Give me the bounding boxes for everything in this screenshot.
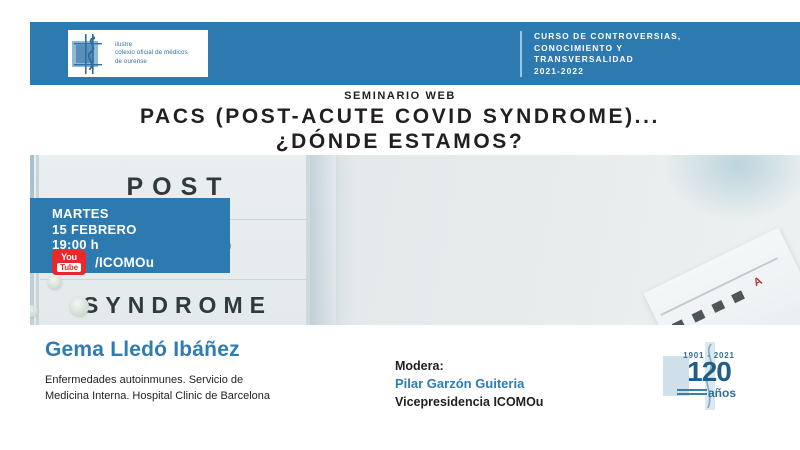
pill-2: [70, 297, 89, 316]
logo-line-3: de ourense: [115, 58, 188, 67]
lightbox-shadow: [310, 155, 340, 325]
moderator-block: Modera: Pilar Garzón Guiteria Vicepresid…: [395, 357, 543, 411]
webinar-poster: ilustre colexio oficial de médicos de ou…: [0, 0, 800, 450]
logo-line-1: ilustre: [115, 41, 188, 50]
course-line-2: CONOCIMIENTO Y: [534, 43, 681, 55]
speaker-affiliation-line-1: Enfermedades autoinmunes. Servicio de: [45, 372, 270, 388]
event-date: 15 FEBRERO: [52, 222, 137, 238]
page-title: PACS (POST-ACUTE COVID SYNDROME)... ¿DÓN…: [0, 104, 800, 154]
speaker-name: Gema Lledó Ibáñez: [45, 338, 240, 362]
seminar-kicker: SEMINARIO WEB: [0, 90, 800, 102]
course-series-title: CURSO DE CONTROVERSIAS, CONOCIMIENTO Y T…: [520, 31, 681, 77]
title-line-1: PACS (POST-ACUTE COVID SYNDROME)...: [0, 104, 800, 129]
course-line-1: CURSO DE CONTROVERSIAS,: [534, 31, 681, 43]
logo-line-2: colexio oficial de médicos: [115, 49, 188, 58]
course-line-4: 2021-2022: [534, 66, 681, 78]
youtube-channel-link[interactable]: You Tube /ICOMOu: [52, 250, 154, 275]
course-line-3: TRANSVERSALIDAD: [534, 54, 681, 66]
moderator-role: Vicepresidencia ICOMOu: [395, 393, 543, 411]
anniversary-word: años: [655, 386, 763, 400]
youtube-icon-top: You: [61, 253, 77, 262]
speaker-affiliation-line-2: Medicina Interna. Hospital Clinic de Bar…: [45, 388, 270, 404]
event-datetime: MARTES 15 FEBRERO 19:00 h: [52, 206, 137, 253]
caduceus-logo-icon: [72, 34, 110, 74]
moderator-label: Modera:: [395, 357, 543, 375]
pill-1: [48, 275, 62, 289]
icomou-logo: ilustre colexio oficial de médicos de ou…: [68, 30, 208, 77]
anniversary-number: 120: [655, 358, 763, 386]
event-info-box: MARTES 15 FEBRERO 19:00 h You Tube /ICOM…: [30, 198, 230, 273]
logo-wordmark: ilustre colexio oficial de médicos de ou…: [115, 41, 188, 67]
youtube-icon-bottom: Tube: [57, 263, 81, 272]
youtube-handle[interactable]: /ICOMOu: [95, 255, 154, 270]
moderator-name: Pilar Garzón Guiteria: [395, 375, 543, 393]
lightbox-divider-2: [40, 279, 308, 280]
title-line-2: ¿DÓNDE ESTAMOS?: [0, 129, 800, 154]
event-day: MARTES: [52, 206, 137, 222]
header-band: ilustre colexio oficial de médicos de ou…: [30, 22, 800, 85]
anniversary-logo: 1901 - 2021 120 años: [655, 342, 763, 410]
speaker-affiliation: Enfermedades autoinmunes. Servicio de Me…: [45, 372, 270, 404]
youtube-icon[interactable]: You Tube: [52, 250, 86, 275]
